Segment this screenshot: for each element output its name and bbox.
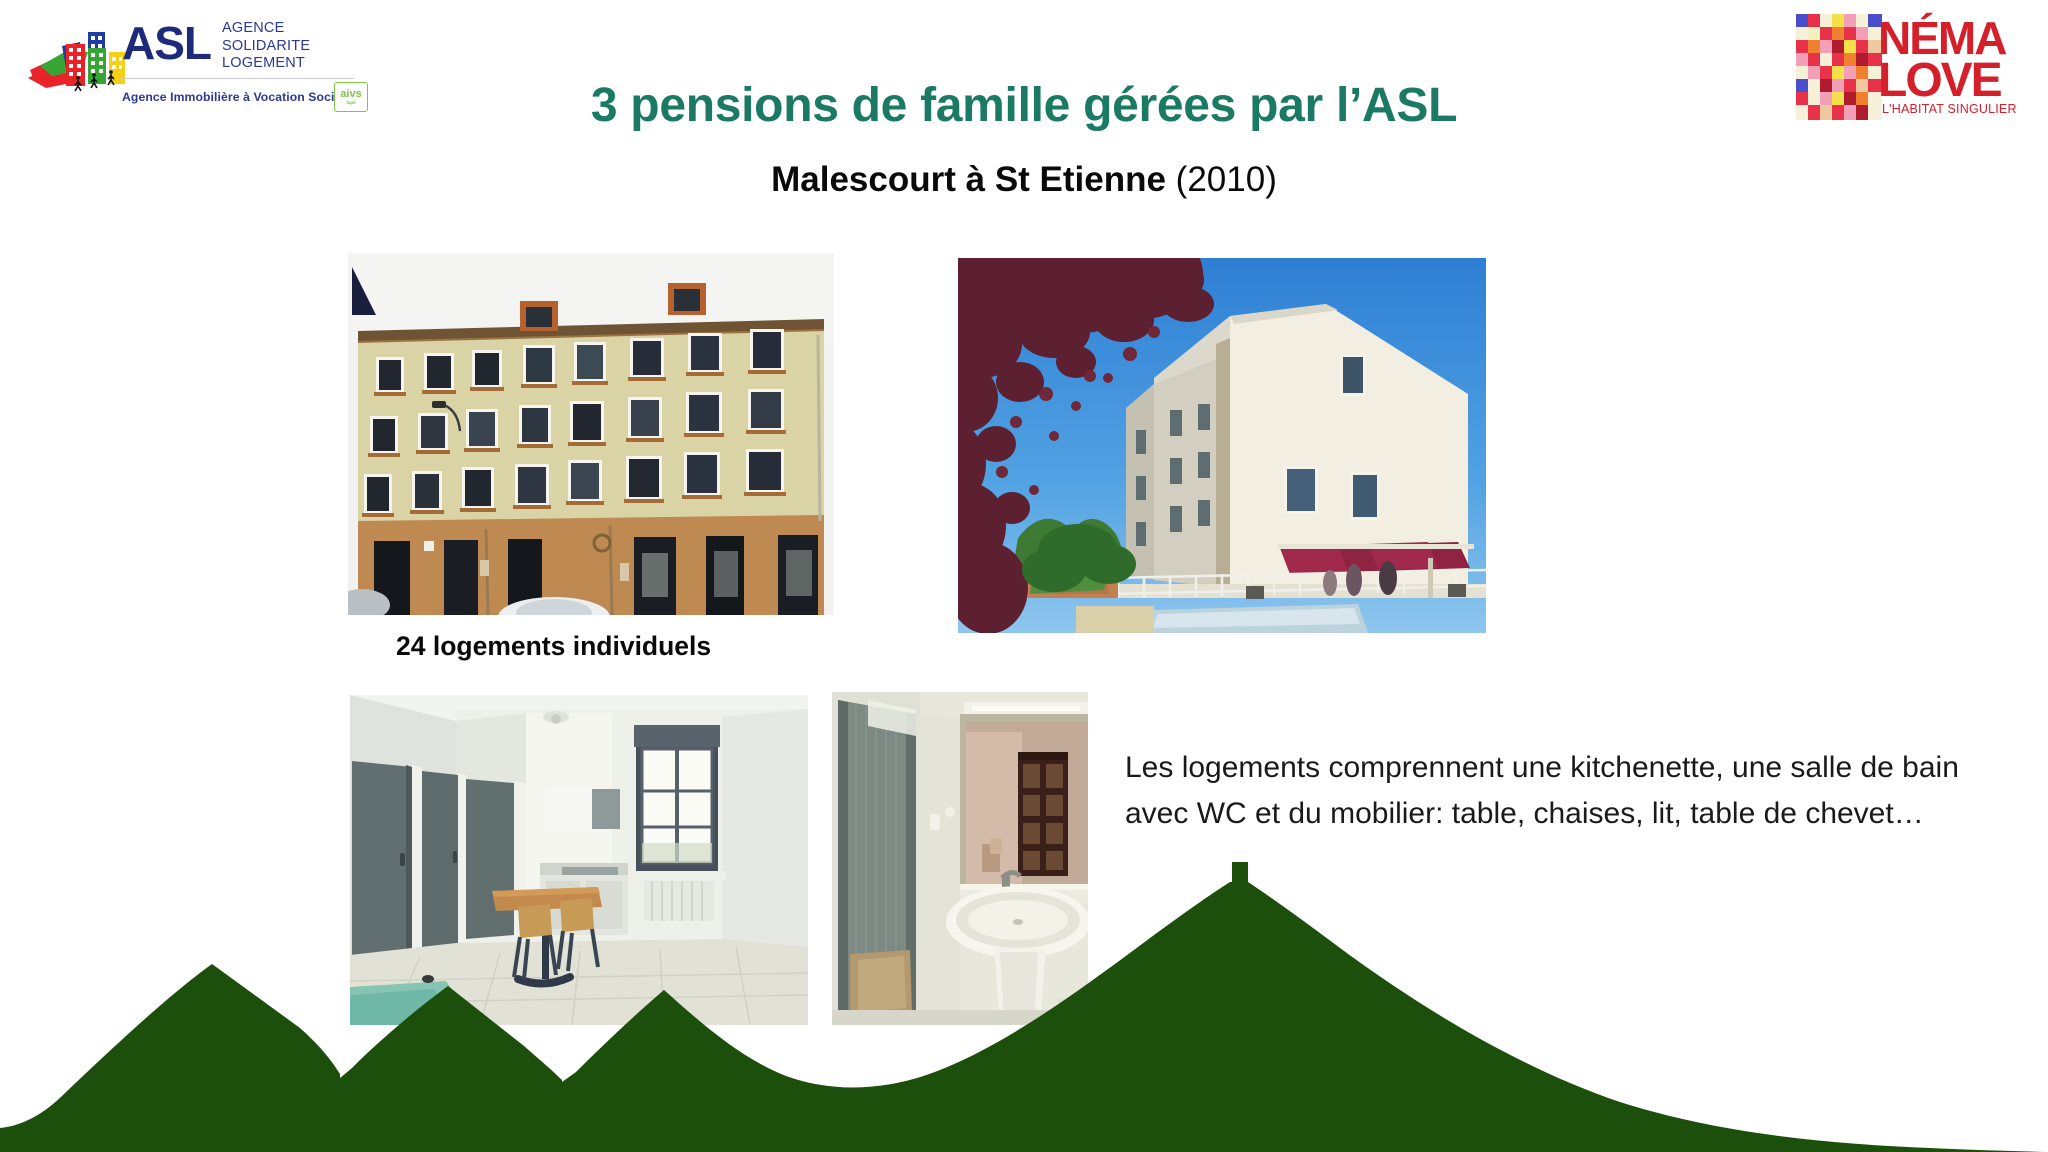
caption-logements: 24 logements individuels [396,631,711,662]
page-title: 3 pensions de famille gérées par l’ASL [0,78,2048,133]
body-text: Les logements comprennent une kitchenett… [1125,745,2010,837]
slide-root: ASL AGENCE SOLIDARITE LOGEMENT Agence Im… [0,0,2048,1152]
asl-subtitle-lines: AGENCE SOLIDARITE LOGEMENT [222,20,310,73]
subtitle-year-part: (2010) [1166,160,1277,199]
asl-subtitle-line1: AGENCE [222,20,310,38]
asl-subtitle-line2: SOLIDARITE [222,38,310,56]
asl-subtitle-line3: LOGEMENT [222,55,310,73]
photo-facade [348,253,834,615]
subtitle-bold-part: Malescourt à St Etienne [771,160,1166,199]
photo-exterior [958,258,1486,633]
mountain-decoration [0,862,2048,1152]
asl-wordmark: ASL [122,20,211,66]
page-subtitle: Malescourt à St Etienne (2010) [0,160,2048,200]
